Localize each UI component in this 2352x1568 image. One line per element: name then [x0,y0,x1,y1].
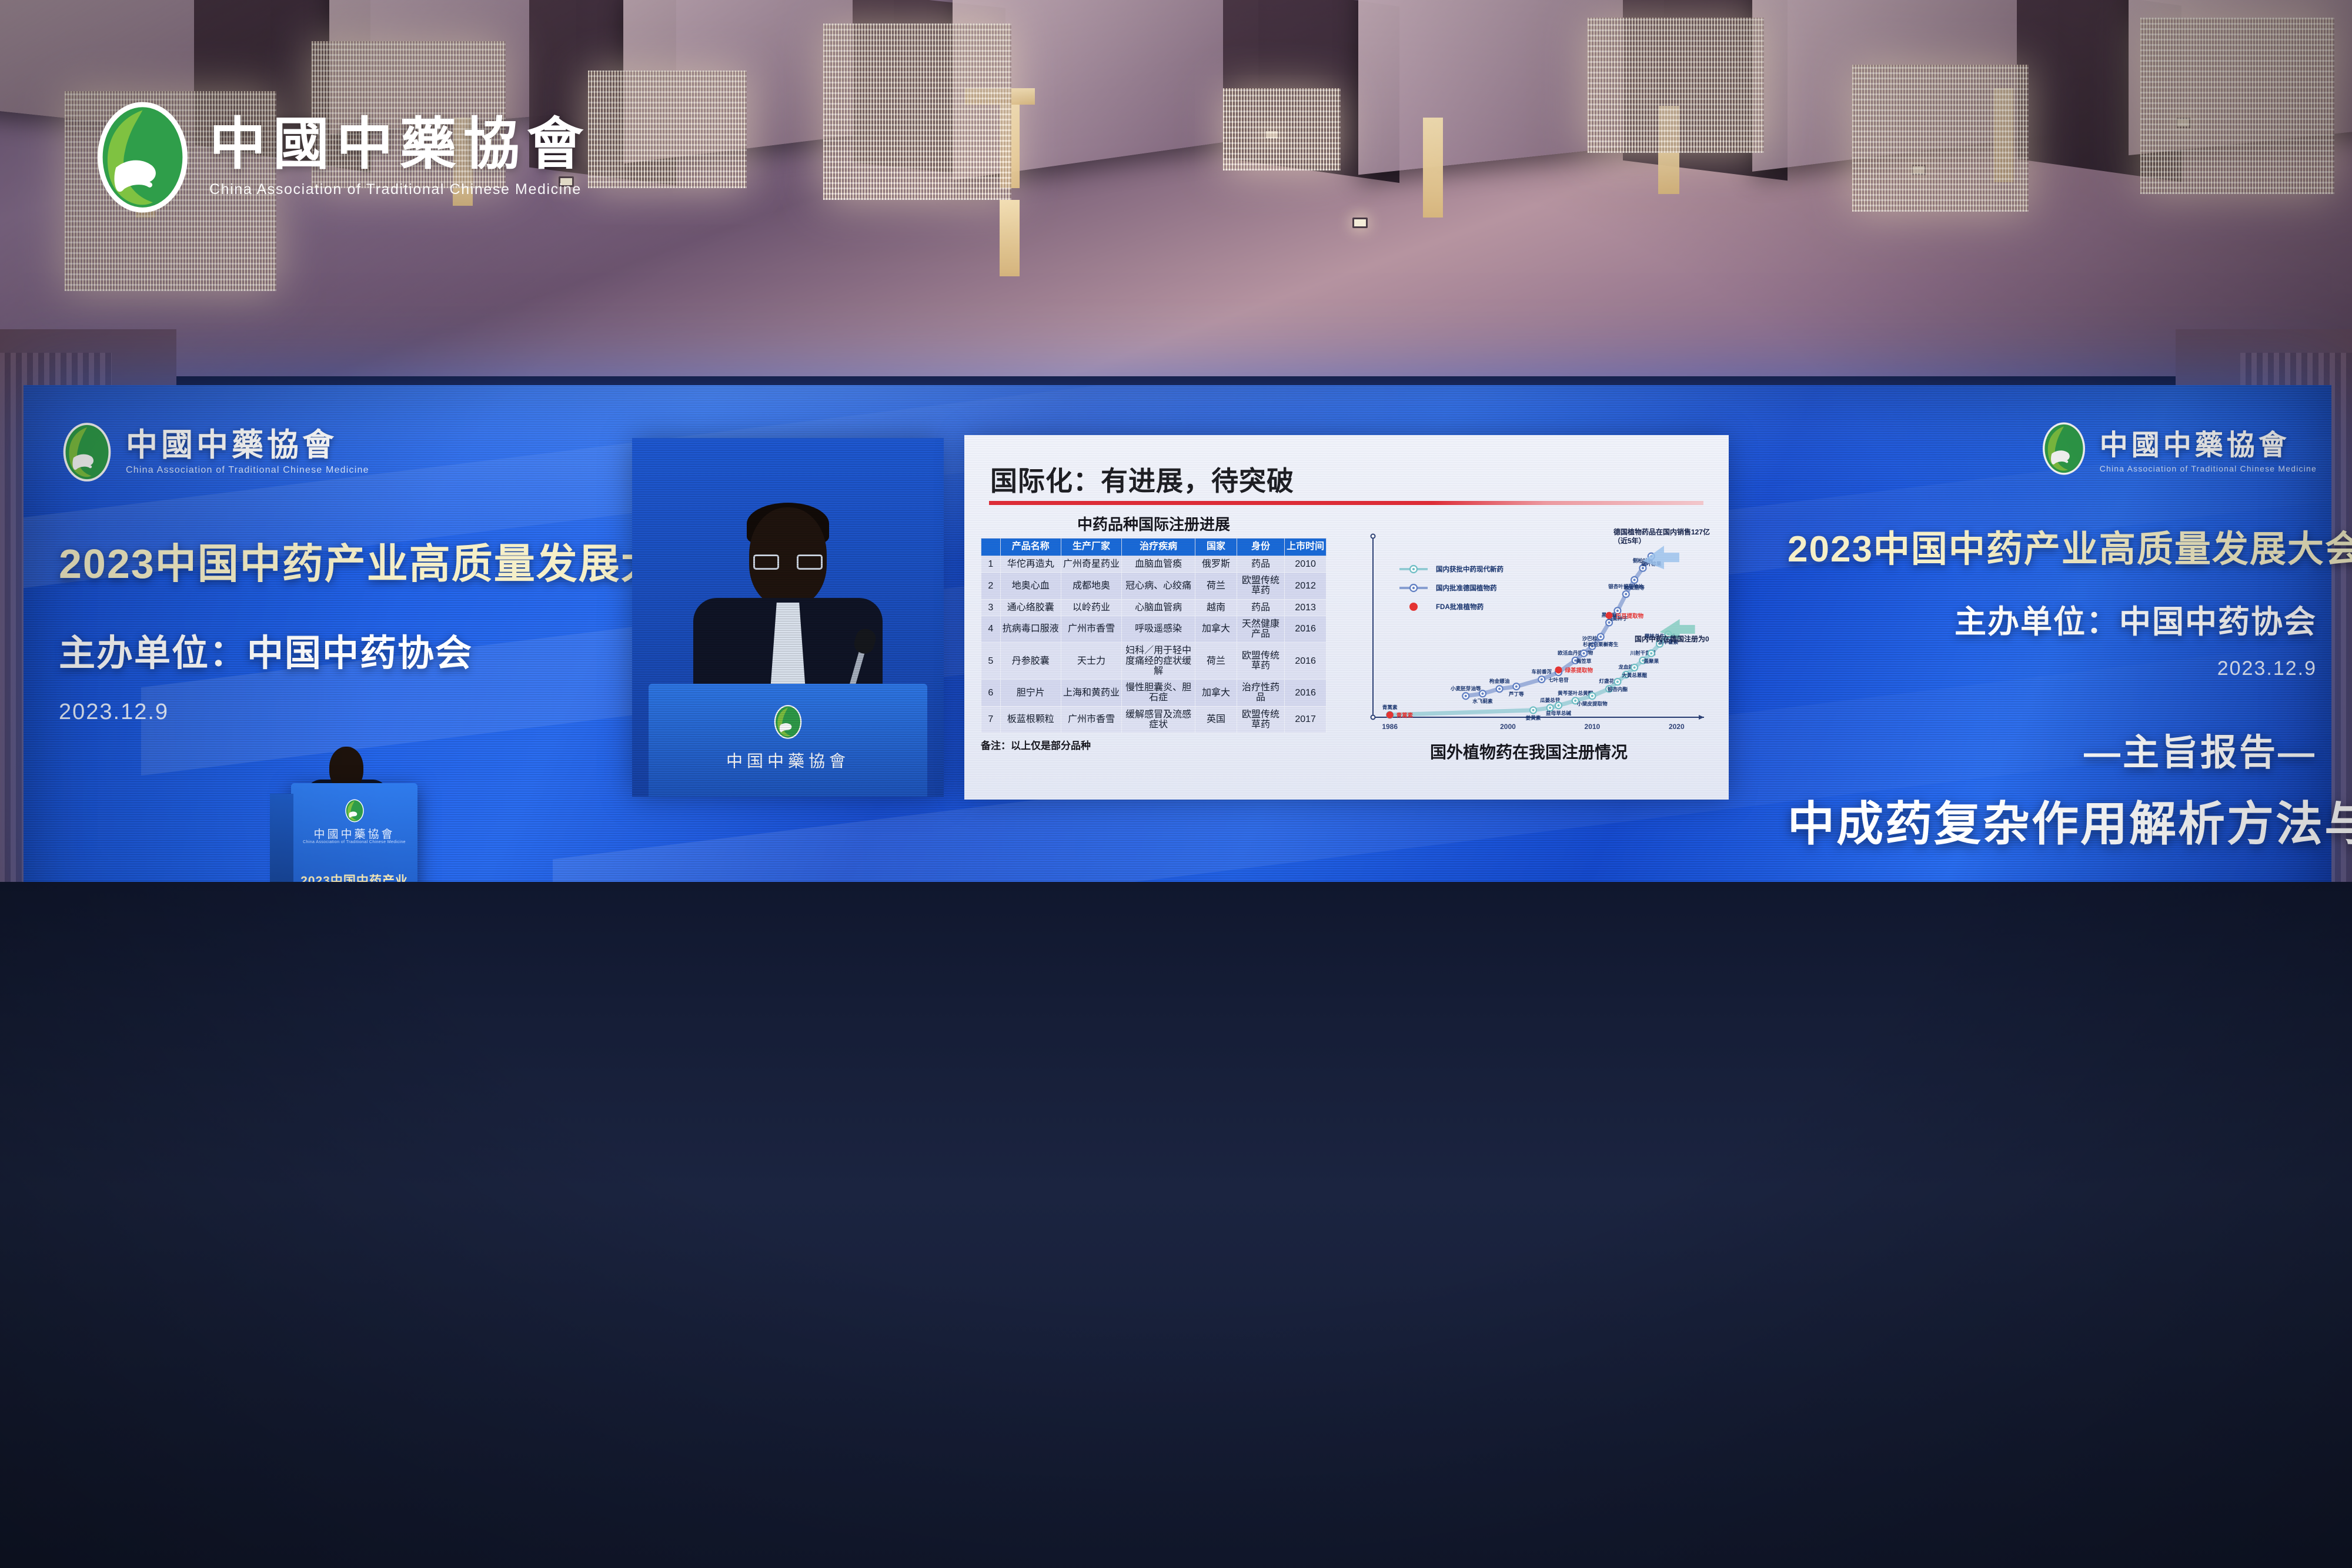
table-cell: 上海和黄药业 [1061,680,1121,707]
table-cell: 治疗性药品 [1237,680,1285,707]
table-cell: 1 [981,556,1001,572]
association-logo-icon [91,100,194,215]
table-cell: 5 [981,643,1001,680]
table-cell: 血脑血管瘓 [1122,556,1195,572]
svg-text:益母草总碱: 益母草总碱 [1546,710,1571,716]
table-cell: 地奥心血 [1000,573,1061,600]
association-logo-icon [771,704,805,740]
chart-caption: 国外植物药在我国注册情况 [1341,740,1717,763]
table-row: 2地奥心血成都地奥冠心病、心绞痛荷兰欧盟传统草药2012 [981,573,1327,600]
eyeglasses-icon [753,554,823,570]
table-cell: 欧盟传统草药 [1237,573,1285,600]
table-note: 备注：以上仅是部分品种 [981,737,1327,752]
svg-text:小麦胚芽油等: 小麦胚芽油等 [1450,685,1481,691]
watermark-org-cn: 中國中藥協會 [209,116,590,173]
table-cell: 3 [981,599,1001,616]
table-cell: 以岭药业 [1061,599,1121,616]
table-cell: 广州市香雪 [1061,616,1121,643]
association-name-en: China Association of Traditional Chinese… [126,466,369,475]
table-cell: 板蓝根颗粒 [1000,706,1061,733]
ceiling-spotlight [1352,218,1368,228]
table-cell: 加拿大 [1195,680,1237,707]
table-cell: 2013 [1285,599,1327,616]
table-cell: 俄罗斯 [1195,556,1237,572]
session-kicker: —主旨报告— [1788,723,2317,775]
led-right-panel: 中國中藥協會 China Association of Traditional … [1788,420,2317,944]
table-cell: 2017 [1285,706,1327,733]
table-cell: 成都地奥 [1061,573,1121,600]
slide-title-rule [989,501,1703,505]
conference-photo: 中國中藥協會 China Association of Traditional … [0,0,2352,1568]
watermark: 中國中藥協會 China Association of Traditional … [91,100,590,215]
feed-podium: 中国中藥協會 [649,684,927,797]
crystal-chandelier [588,71,747,188]
svg-text:巴豆提取物: 巴豆提取物 [1616,613,1644,620]
table-row: 3通心络胶囊以岭药业心脑血管病越南药品2013 [981,599,1327,616]
svg-text:1986: 1986 [1382,723,1398,731]
crystal-chandelier [1852,65,2029,212]
watermark-org-en: China Association of Traditional Chinese… [209,181,590,198]
table-cell: 2012 [1285,573,1327,600]
crystal-chandelier [823,24,1011,200]
svg-text:梅笠草: 梅笠草 [1576,657,1592,664]
svg-text:青蒿素: 青蒿素 [1396,712,1414,719]
table-cell: 胆宁片 [1000,680,1061,707]
svg-text:欧龙胆等: 欧龙胆等 [1624,584,1645,590]
table-cell: 药品 [1237,599,1285,616]
svg-text:芦丁等: 芦丁等 [1509,691,1524,697]
speaker-torso [693,598,883,733]
th-product: 产品名称 [1000,539,1061,556]
table-cell: 抗病毒口服液 [1000,616,1061,643]
table-row: 6胆宁片上海和黄药业慢性胆囊炎、胆石症加拿大治疗性药品2016 [981,680,1327,707]
association-lockup-right: 中國中藥協會 China Association of Traditional … [1788,420,2317,484]
registration-timeline-chart: 1986200020102020小麦胚芽油等水飞蓟素枸金娜油芦丁等车前番泻七叶皂… [1341,523,1717,764]
speaker-shirt [760,603,816,720]
audience-area [0,882,2352,1568]
association-name-cn: 中國中藥協會 [2100,432,2317,460]
table-cell: 华佗再造丸 [1000,556,1061,572]
svg-text:莪聚果: 莪聚果 [1643,657,1659,664]
table-cell: 2016 [1285,680,1327,707]
chart-annotation-2: 国内中药在德国注册为0 [1635,635,1720,644]
chart-annotation-1: 德国植物药品在国内销售127亿（近5年） [1613,528,1719,546]
table-cell: 天士力 [1061,643,1121,680]
led-left-panel: 中國中藥協會 China Association of Traditional … [59,420,564,725]
session-topic: 中成药复杂作用解析方法与实践 [1788,786,2317,854]
th-manufacturer: 生产厂家 [1061,539,1121,556]
table-cell: 妇科／用于轻中度痛经的症状缓解 [1122,643,1195,680]
table-cell: 丹参胶囊 [1000,643,1061,680]
svg-text:水飞蓟素: 水飞蓟素 [1472,698,1493,704]
presentation-slide: 国际化：有进展，待突破 中药品种国际注册进展 产品名称 生产厂家 治疗疾病 国家… [964,435,1729,800]
conference-date-left: 2023.12.9 [59,700,564,725]
table-cell: 药品 [1237,556,1285,572]
conference-title-right: 2023中国中药产业高质量发展大会 [1788,519,2317,572]
svg-text:车前番泻: 车前番泻 [1532,668,1552,675]
table-cell: 荷兰 [1195,573,1237,600]
table-row: 7板蓝根颗粒广州市香雪缓解感冒及流感症状英国欧盟传统草药2017 [981,706,1327,733]
association-logo-icon [343,798,366,823]
table-cell: 通心络胶囊 [1000,599,1061,616]
svg-text:2000: 2000 [1500,723,1516,731]
th-year: 上市时间 [1285,539,1327,556]
table-cell: 欧盟传统草药 [1237,706,1285,733]
table-cell: 呼吸遥感染 [1122,616,1195,643]
svg-text:FDA批准植物药: FDA批准植物药 [1436,603,1484,611]
live-video-feed: 中国中藥協會 [632,438,944,797]
th-indication: 治疗疾病 [1122,539,1195,556]
table-cell: 广州市香雪 [1061,706,1121,733]
microphone-icon [841,646,867,715]
svg-text:2010: 2010 [1585,723,1601,731]
svg-text:黄芩茎叶总黄酮: 黄芩茎叶总黄酮 [1558,690,1593,696]
table-cell: 慢性胆囊炎、胆石症 [1122,680,1195,707]
feed-podium-org: 中国中藥協會 [649,748,927,772]
table-row: 1华佗再造丸广州奇星药业血脑血管瘓俄罗斯药品2010 [981,556,1327,572]
table-cell: 4 [981,616,1001,643]
svg-text:姜黄素: 姜黄素 [1526,714,1541,721]
table-cell: 缓解感冒及流感症状 [1122,706,1195,733]
table-cell: 英国 [1195,706,1237,733]
table-cell: 2016 [1285,643,1327,680]
crystal-chandelier [1588,18,1764,153]
table-row: 4抗病毒口服液广州市香雪呼吸遥感染加拿大天然健康产品2016 [981,616,1327,643]
svg-text:枸金娜油: 枸金娜油 [1489,678,1510,684]
table-cell: 广州奇星药业 [1061,556,1121,572]
table-cell: 2016 [1285,616,1327,643]
table-row: 5丹参胶囊天士力妇科／用于轻中度痛经的症状缓解荷兰欧盟传统草药2016 [981,643,1327,680]
svg-text:绿茶提取物: 绿茶提取物 [1565,667,1593,674]
table-cell: 2010 [1285,556,1327,572]
conference-host-left: 主办单位：中国中药协会 [59,623,564,676]
table-cell: 心脑血管病 [1122,599,1195,616]
table-cell: 6 [981,680,1001,707]
svg-text:杉树白栗槲寄生: 杉树白栗槲寄生 [1583,641,1619,647]
association-logo-icon [59,420,115,484]
association-lockup-left: 中國中藥協會 China Association of Traditional … [59,420,564,484]
podium-org-en: China Association of Traditional Chinese… [291,840,417,844]
crystal-chandelier [1223,88,1341,170]
table-cell: 天然健康产品 [1237,616,1285,643]
table-cell: 荷兰 [1195,643,1237,680]
conference-date-right: 2023.12.9 [1788,657,2317,680]
svg-text:大黄总蒽醌: 大黄总蒽醌 [1622,671,1647,678]
svg-text:2020: 2020 [1669,723,1685,731]
table-cell: 欧盟传统草药 [1237,643,1285,680]
table-cell: 7 [981,706,1001,733]
association-logo-icon [2033,420,2089,484]
conference-host-right: 主办单位：中国中药协会 [1788,596,2317,642]
svg-text:国内获批中药现代新药: 国内获批中药现代新药 [1436,565,1504,573]
slide-title: 国际化：有进展，待突破 [990,460,1294,499]
th-country: 国家 [1195,539,1237,556]
speaker-hair [747,503,829,545]
table-cell: 加拿大 [1195,616,1237,643]
table-header-row: 产品名称 生产厂家 治疗疾病 国家 身份 上市时间 [981,539,1327,556]
table-cell: 2 [981,573,1001,600]
registration-table-block: 中药品种国际注册进展 产品名称 生产厂家 治疗疾病 国家 身份 上市时间 1华佗… [981,513,1327,752]
podium-org-cn: 中國中藥協會 [291,825,417,841]
svg-text:七叶皂苷: 七叶皂苷 [1548,676,1569,683]
crystal-chandelier [2140,18,2334,194]
association-name-en: China Association of Traditional Chinese… [2100,464,2317,473]
table-cell: 越南 [1195,599,1237,616]
registration-table: 产品名称 生产厂家 治疗疾病 国家 身份 上市时间 1华佗再造丸广州奇星药业血脑… [981,538,1327,733]
table-cell: 冠心病、心绞痛 [1122,573,1195,600]
th-status: 身份 [1237,539,1285,556]
table-caption: 中药品种国际注册进展 [981,513,1327,534]
speaker-head [749,507,827,606]
svg-text:银杏内酯: 银杏内酯 [1608,686,1628,693]
conference-title-left: 2023中国中药产业高质量发展大会 [59,531,564,590]
association-name-cn: 中國中藥協會 [126,429,369,461]
svg-text:欧活血丹提取物: 欧活血丹提取物 [1558,649,1593,656]
th-index [981,539,1001,556]
svg-text:小檗皮提取物: 小檗皮提取物 [1576,700,1608,707]
svg-text:国内批准德国植物药: 国内批准德国植物药 [1436,584,1497,592]
svg-text:青蒿素: 青蒿素 [1382,704,1398,710]
